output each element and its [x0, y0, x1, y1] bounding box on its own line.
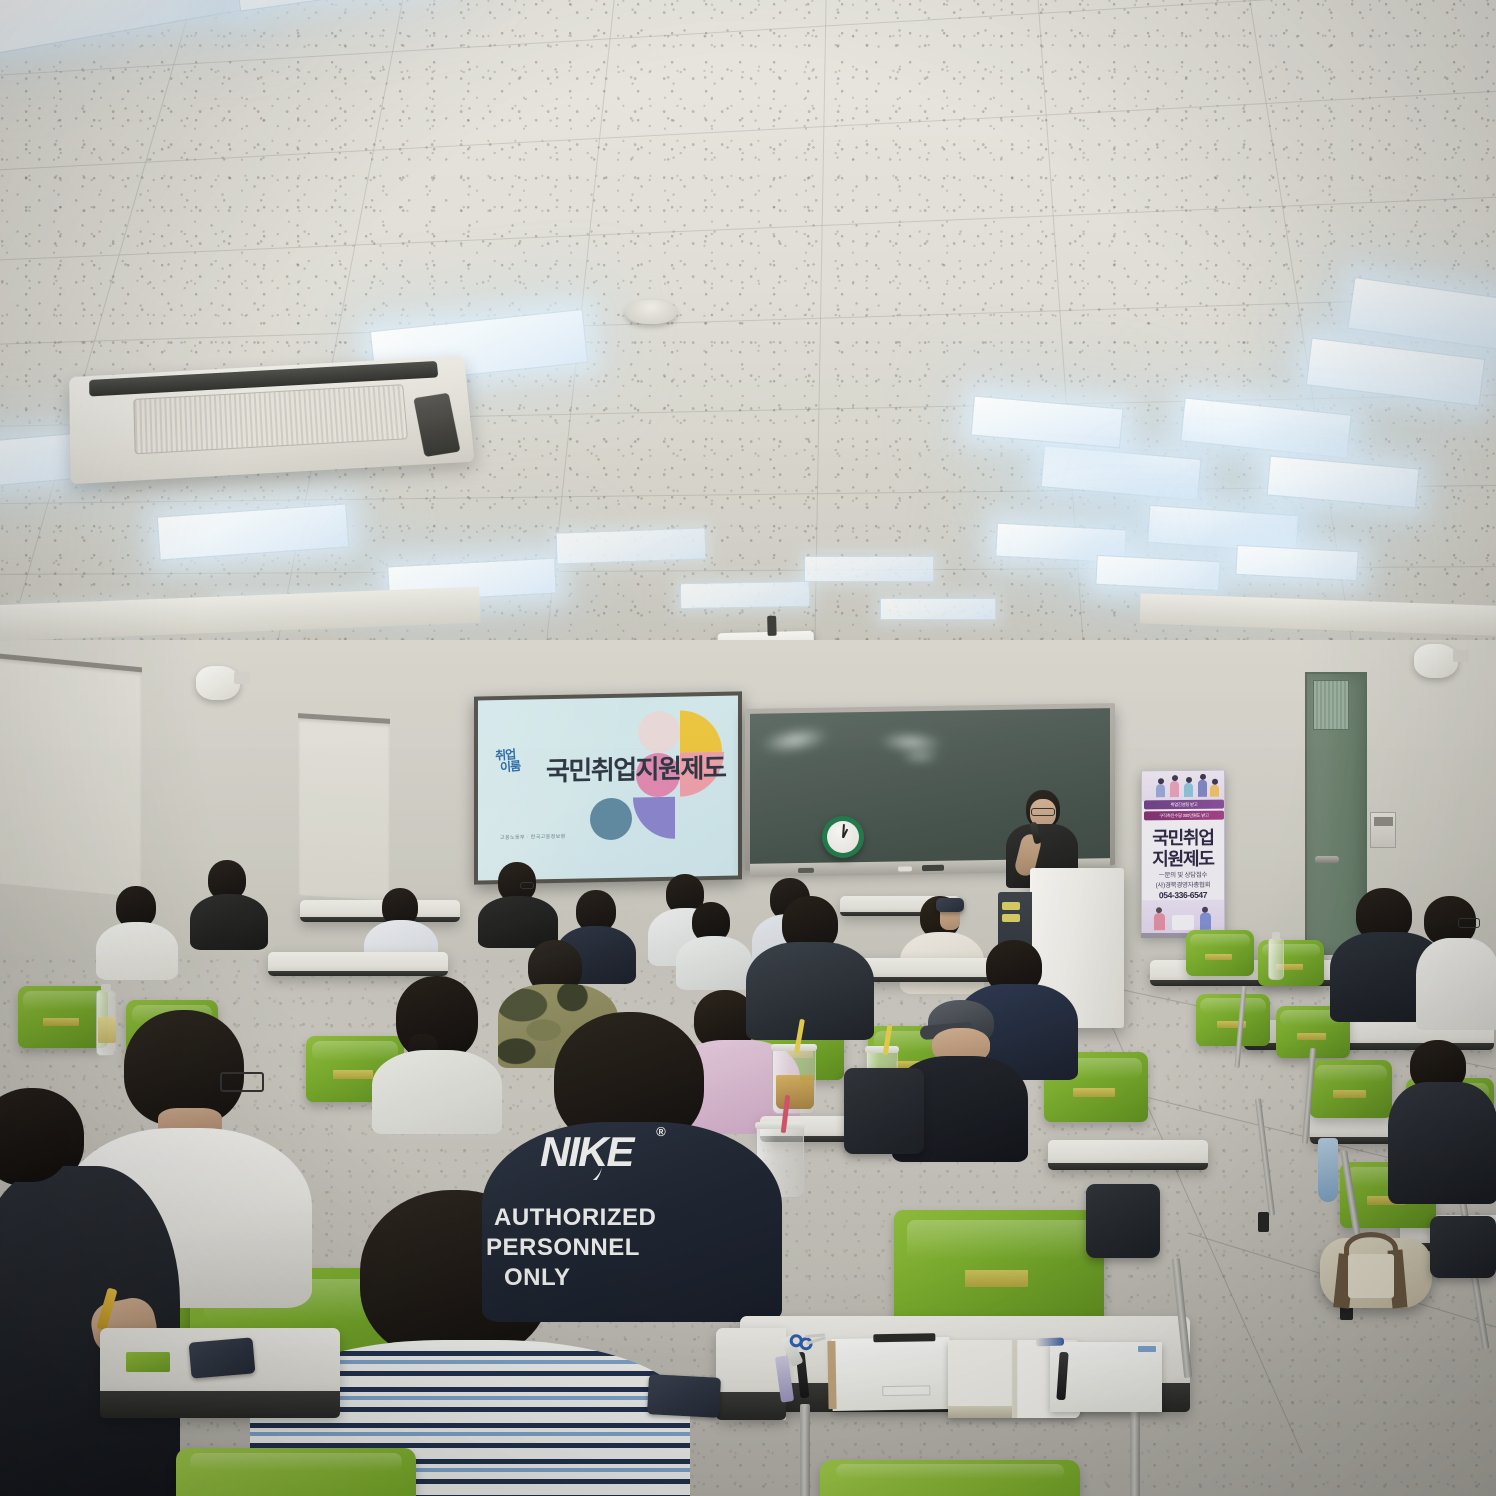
duffel-bag [1320, 1238, 1432, 1308]
banner-title-line2: 지원제도 [1142, 845, 1224, 872]
attendee-right-white [1416, 896, 1496, 1026]
wall-speaker-left [196, 666, 240, 700]
rollup-banner: 취업진설팅 받고 구직촉진수당 300만원도 받고 국민취업 지원제도 ㅡ문의 … [1141, 770, 1225, 936]
logo-yellow-quarter [680, 710, 722, 753]
window-blind-left[interactable] [0, 653, 142, 898]
slide-footnote: 고용노동부 · 한국고용정보원 [500, 833, 566, 841]
green-card [126, 1352, 170, 1372]
chair[interactable] [1310, 1060, 1392, 1118]
water-bottle [1268, 938, 1284, 980]
logo-pale-pink-circle [638, 711, 680, 754]
slide-title: 국민취업지원제도 [546, 748, 725, 788]
banner-org: (사)경북경영자총협회 [1142, 879, 1224, 890]
projection-screen: 취업 이룸 국민취업지원제도 고용노동부 · 한국고용정보원 [474, 691, 742, 884]
desk-foot [1258, 1212, 1269, 1232]
attendee [96, 886, 178, 978]
blackboard-glare [759, 724, 831, 757]
binder-clip [873, 1333, 935, 1342]
chair-foreground[interactable] [176, 1448, 416, 1496]
backpack [1086, 1184, 1160, 1258]
ceiling-light-panel [880, 598, 996, 620]
desk-leg [1130, 1404, 1140, 1496]
wall-clock [822, 816, 864, 858]
nike-text-line3: ONLY [504, 1264, 570, 1292]
ac-side-vane-icon [413, 393, 460, 458]
chalk-piece[interactable] [798, 868, 814, 873]
attendee-left-edge [0, 1090, 100, 1230]
nike-registered-mark: ® [656, 1124, 666, 1139]
ceiling-light-panel [555, 527, 706, 564]
banner-ribbon-1: 취업진설팅 받고 [1144, 800, 1224, 810]
nike-text-line1: AUTHORIZED [494, 1204, 656, 1232]
desk [1048, 1140, 1208, 1170]
presenter-glasses-icon [1031, 808, 1055, 816]
smartphone[interactable] [189, 1337, 256, 1378]
lecture-hall-photo: 취업 이룸 국민취업지원제도 고용노동부 · 한국고용정보원 [0, 0, 1496, 1496]
wall-speaker-right [1414, 644, 1458, 678]
nike-swoosh-icon [518, 1154, 602, 1180]
smoke-detector-icon [625, 300, 677, 324]
chair[interactable] [1186, 930, 1254, 976]
window-blind-center[interactable] [298, 713, 390, 901]
clock-face [827, 821, 859, 853]
ceiling [0, 0, 1496, 670]
ceiling-ac-unit [69, 356, 474, 485]
slide-emblem: 취업 이룸 [495, 745, 549, 785]
backpack [1430, 1216, 1496, 1278]
slide-emblem-line2: 이룸 [500, 758, 549, 774]
desk-left-partial [716, 1328, 786, 1420]
attendee-ponytail [372, 976, 502, 1126]
blackboard-glare [900, 751, 940, 762]
podium-control-button[interactable] [1002, 914, 1020, 922]
blackboard-glare [877, 732, 944, 754]
ring-binder [831, 1337, 950, 1411]
door-handle-icon[interactable] [1315, 856, 1339, 863]
banner-illustration-people [1150, 775, 1218, 798]
ceiling-light-panel [680, 581, 810, 609]
backpack [844, 1068, 924, 1154]
door-window-icon [1313, 680, 1349, 730]
attendee [478, 862, 558, 946]
podium-control-button[interactable] [1002, 902, 1020, 910]
eyeglasses-icon [220, 1072, 264, 1092]
electrical-panel [1370, 812, 1396, 848]
presentation-slide: 취업 이룸 국민취업지원제도 고용노동부 · 한국고용정보원 [478, 696, 738, 881]
attendee-nike-shirt: NIKE ® AUTHORIZED PERSONNEL ONLY [482, 1012, 782, 1312]
ac-grille-icon [133, 384, 408, 454]
ceiling-light-panel [1235, 545, 1358, 581]
nike-text-line2: PERSONNEL [486, 1234, 640, 1262]
ceiling-light-panel [804, 556, 934, 582]
logo-purple-quarter [633, 797, 675, 840]
projector-mount-icon [767, 616, 777, 636]
smartphone[interactable] [647, 1374, 721, 1418]
logo-blue-circle [590, 798, 632, 841]
chair-foreground[interactable] [820, 1460, 1080, 1496]
desk-leg [800, 1404, 810, 1496]
attendee [676, 902, 752, 988]
banner-header [1142, 771, 1224, 802]
ceiling-light-panel [1095, 555, 1220, 591]
attendee-right-suit [1388, 1040, 1496, 1200]
banner-ribbon-2: 구직촉진수당 300만원도 받고 [1144, 811, 1224, 821]
chair[interactable] [1196, 994, 1270, 1046]
binder-spine [827, 1341, 836, 1409]
desk [268, 952, 448, 976]
binder-label [882, 1385, 930, 1396]
pen[interactable] [1036, 1338, 1064, 1347]
umbrella [1318, 1138, 1338, 1202]
chalk-piece[interactable] [898, 866, 912, 871]
eraser[interactable] [922, 865, 944, 871]
attendee [190, 860, 268, 948]
